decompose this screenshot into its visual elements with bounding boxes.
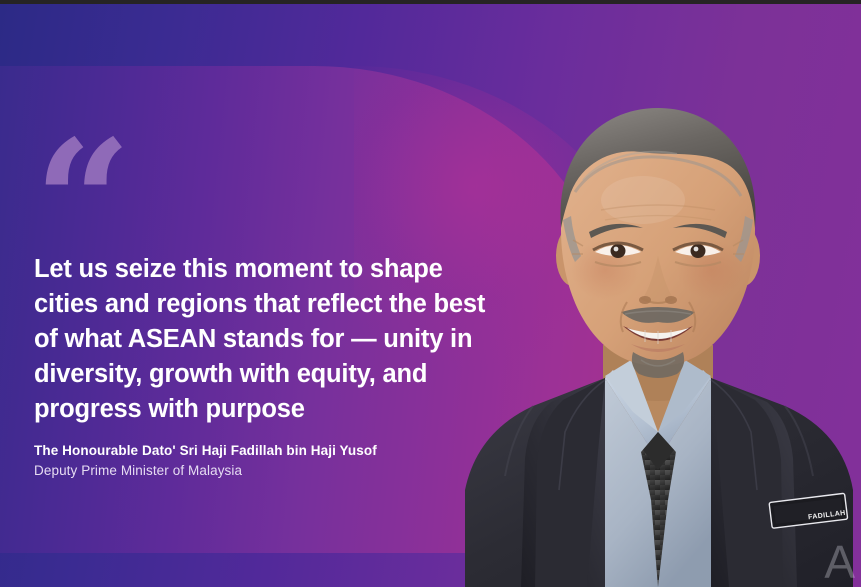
attribution: The Honourable Dato' Sri Haji Fadillah b… xyxy=(34,441,377,481)
attribution-name: The Honourable Dato' Sri Haji Fadillah b… xyxy=(34,441,377,461)
portrait-photo xyxy=(455,60,861,587)
quote-text: Let us seize this moment to shape cities… xyxy=(34,252,504,427)
top-dark-strip xyxy=(0,0,861,4)
quote-slide: “ Let us seize this moment to shape citi… xyxy=(0,0,861,587)
watermark-letter: A xyxy=(824,539,855,585)
attribution-role: Deputy Prime Minister of Malaysia xyxy=(34,461,377,481)
